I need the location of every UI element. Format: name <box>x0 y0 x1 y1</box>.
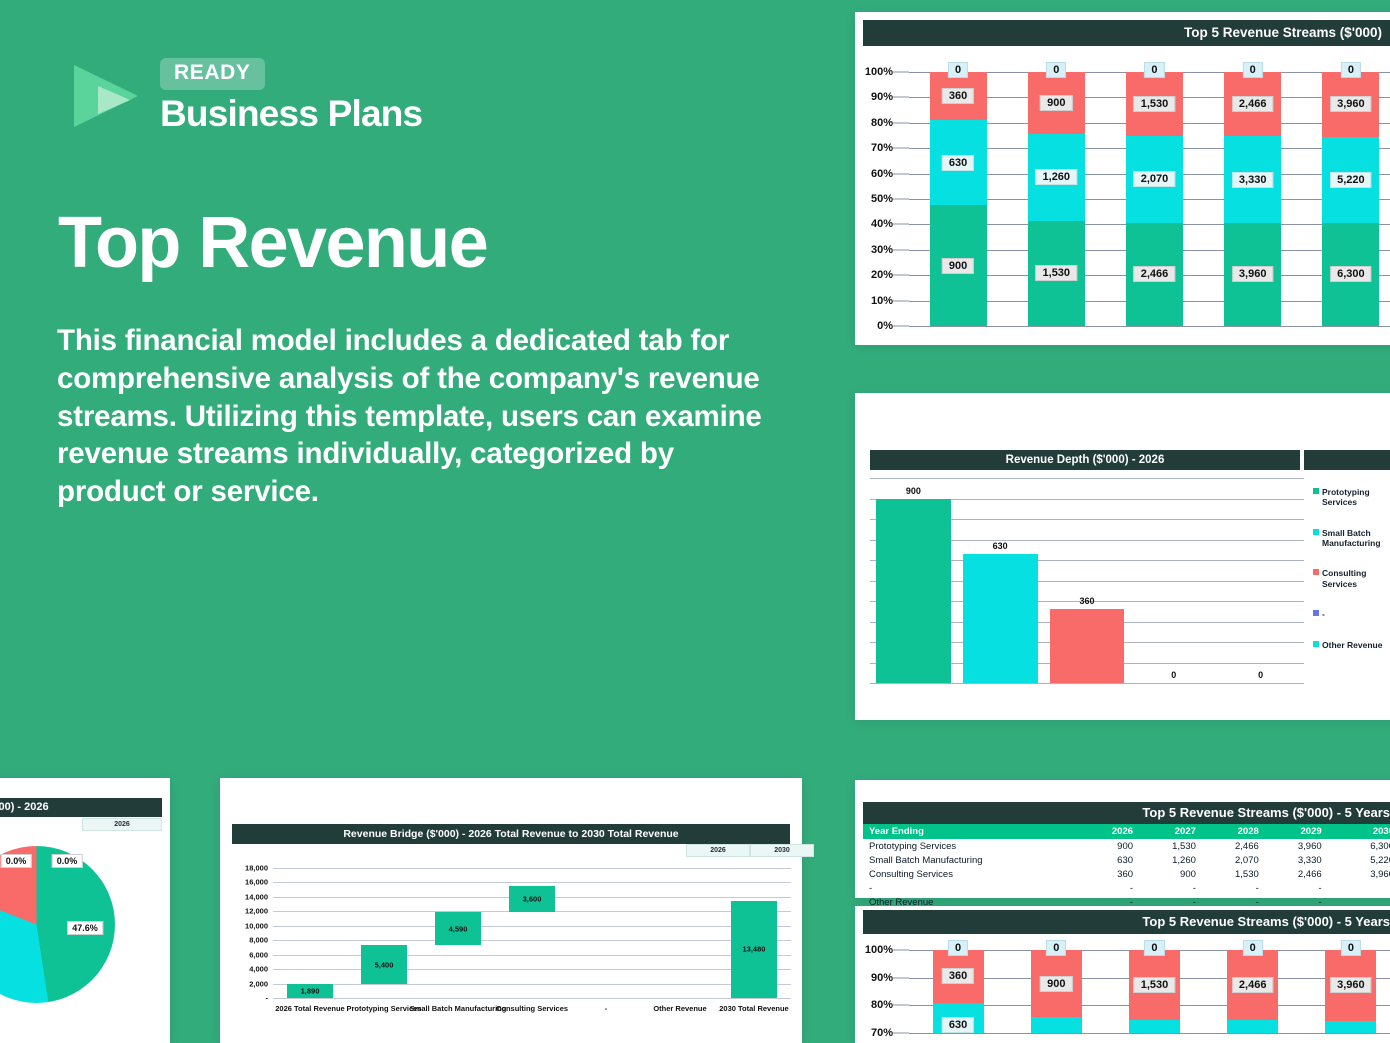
y-tick-label: 12,000 <box>245 907 268 916</box>
gridline <box>870 683 1304 684</box>
bar-column: 1,5301,2609000 <box>1028 52 1085 340</box>
bar-value-label: 0 <box>1171 670 1176 680</box>
waterfall-bar: 5,400 <box>361 945 407 984</box>
bar-value-label: 1,530 <box>1134 96 1176 112</box>
y-tick-label: 16,000 <box>245 878 268 887</box>
bar-column: 3,9600 <box>1325 936 1376 1043</box>
table-cell: - <box>863 881 1076 895</box>
bar-zero-label: 0 <box>1341 940 1361 956</box>
play-triangle-logo-icon <box>68 59 146 133</box>
table-header-cell: 2029 <box>1265 824 1328 839</box>
y-tick-label: 0% <box>877 320 893 332</box>
bar-zero-label: 0 <box>1046 940 1066 956</box>
y-tick-label: 100% <box>865 944 893 956</box>
bar-value-label: 3,960 <box>1330 977 1372 993</box>
bottom-revenue-streams-card: Top 5 Revenue Streams ($'000) - 5 Years … <box>855 906 1390 1043</box>
bar <box>963 554 1038 683</box>
waterfall-bar: 1,890 <box>287 984 333 998</box>
bar-zero-label: 0 <box>1341 62 1361 78</box>
bar-column: 2,4662,0701,5300 <box>1126 52 1183 340</box>
table-cell: 360 <box>1076 867 1139 881</box>
table-cell: 5,220 <box>1328 853 1390 867</box>
bar-value-label: 630 <box>942 1017 974 1033</box>
pie-mini-header-2026: 2026 <box>82 818 162 831</box>
y-tick-mark <box>893 275 909 276</box>
legend-swatch <box>1313 641 1319 647</box>
bar-value-label: 3,600 <box>523 895 542 904</box>
table-cell: - <box>1076 881 1139 895</box>
x-category-label: Consulting Services <box>496 1004 568 1013</box>
bar-value-label: 5,400 <box>375 960 394 969</box>
bar-zero-label: 0 <box>1046 62 1066 78</box>
table-cell: 900 <box>1139 867 1202 881</box>
bar-column: 6303600 <box>933 936 984 1043</box>
bar-segment <box>1031 1017 1082 1033</box>
y-tick-label: 70% <box>871 1027 893 1039</box>
bar-value-label: 630 <box>942 155 974 171</box>
table-cell: Prototyping Services <box>863 839 1076 853</box>
y-tick-label: 80% <box>871 999 893 1011</box>
y-tick-mark <box>893 224 909 225</box>
brand-name: Business Plans <box>160 94 422 134</box>
table-cell: 630 <box>1076 853 1139 867</box>
table-cell: 6,300 <box>1328 839 1390 853</box>
bar-value-label: 360 <box>942 88 974 104</box>
revenue-bridge-card: Revenue Bridge ($'000) - 2026 Total Reve… <box>220 778 802 1043</box>
depth-chart-plot: 90063036000 <box>870 478 1304 683</box>
y-tick-mark <box>893 173 909 174</box>
y-tick-mark <box>893 249 909 250</box>
table-header-cell: 2028 <box>1202 824 1265 839</box>
gridline <box>273 969 791 970</box>
bottom-chart-title: Top 5 Revenue Streams ($'000) - 5 Years <box>863 910 1390 934</box>
gridline <box>273 984 791 985</box>
bar-value-label: 2,466 <box>1134 266 1176 282</box>
legend-swatch <box>1313 569 1319 575</box>
bar-value-label: 900 <box>942 258 974 274</box>
bar-value-label: 2,466 <box>1232 96 1274 112</box>
depth-chart-title: Revenue Depth ($'000) - 2026 <box>870 450 1300 470</box>
table-cell: Small Batch Manufacturing <box>863 853 1076 867</box>
y-tick-label: 30% <box>871 244 893 256</box>
y-tick-label: 80% <box>871 117 893 129</box>
revenue-depth-card: Revenue Depth ($'000) - 2026 90063036000… <box>855 393 1390 720</box>
bar-segment <box>1129 1020 1180 1033</box>
bar-value-label: 360 <box>1079 596 1094 606</box>
y-tick-label: 4,000 <box>249 965 268 974</box>
hero-panel: READY Business Plans Top Revenue This fi… <box>0 0 840 780</box>
table-header-row: Year Ending20262027202820292030 <box>863 824 1390 839</box>
table-cell: 1,530 <box>1202 867 1265 881</box>
bar-column: 9000 <box>1031 936 1082 1043</box>
bar-value-label: 4,590 <box>449 924 468 933</box>
y-tick-label: 40% <box>871 218 893 230</box>
depth-chart-legend: Prototyping ServicesSmall Batch Manufact… <box>1313 487 1390 670</box>
y-tick-mark <box>893 950 909 951</box>
table-cell: - <box>1265 881 1328 895</box>
pie-chart-title: Run-Rate ($'000) - 2026 <box>0 798 162 817</box>
y-tick-label: 100% <box>865 66 893 78</box>
bar-column: 2,4660 <box>1227 936 1278 1043</box>
legend-label: Consulting Services <box>1322 568 1390 589</box>
waterfall-bar: 13,480 <box>731 901 777 998</box>
top-chart-title: Top 5 Revenue Streams ($'000) <box>863 20 1390 46</box>
bar-value-label: 1,260 <box>1036 169 1078 185</box>
bar-value-label: 900 <box>1040 976 1072 992</box>
ready-badge: READY <box>160 58 265 90</box>
legend-swatch <box>1313 610 1319 616</box>
y-tick-label: 50% <box>871 193 893 205</box>
table-header-cell: Year Ending <box>863 824 1076 839</box>
table-cell: 2,070 <box>1202 853 1265 867</box>
legend-label: Prototyping Services <box>1322 487 1390 508</box>
bar-value-label: 1,530 <box>1134 977 1176 993</box>
y-tick-mark <box>893 326 909 327</box>
table-header-cell: 2026 <box>1076 824 1139 839</box>
legend-label: - <box>1322 609 1390 619</box>
x-category-label: 2026 Total Revenue <box>275 1004 344 1013</box>
table-cell: 1,530 <box>1139 839 1202 853</box>
table-row: Prototyping Services9001,5302,4663,9606,… <box>863 839 1390 853</box>
x-category-label: 2030 Total Revenue <box>719 1004 788 1013</box>
plot-area: 90063036001,5301,26090002,4662,0701,5300… <box>909 52 1390 340</box>
legend-label: Small Batch Manufacturing <box>1322 528 1390 549</box>
legend-swatch <box>1313 529 1319 535</box>
bar <box>1050 609 1125 683</box>
bar-segment <box>1227 1020 1278 1033</box>
bottom-chart-plot: 70%80%90%100%630360090001,53002,46603,96… <box>863 936 1390 1043</box>
x-category-label: Small Batch Manufacturing <box>410 1004 507 1013</box>
bar-zero-label: 0 <box>948 62 968 78</box>
y-tick-mark <box>893 300 909 301</box>
legend-item: Consulting Services <box>1313 568 1390 589</box>
table-cell: 3,960 <box>1265 839 1328 853</box>
bar-column: 9006303600 <box>930 52 987 340</box>
gridline <box>273 882 791 883</box>
gridline <box>273 926 791 927</box>
y-tick-mark <box>893 122 909 123</box>
bar-value-label: 900 <box>1040 95 1072 111</box>
plot-area: 630360090001,53002,46603,9600 <box>909 936 1390 1043</box>
revenue-table-card: Top 5 Revenue Streams ($'000) - 5 Years … <box>855 780 1390 898</box>
table-cell: 2,466 <box>1265 867 1328 881</box>
bar-value-label: 1,890 <box>301 987 320 996</box>
bar-zero-label: 0 <box>1144 940 1164 956</box>
y-tick-label: 60% <box>871 168 893 180</box>
bar-value-label: 900 <box>906 486 921 496</box>
table-row: Small Batch Manufacturing6301,2602,0703,… <box>863 853 1390 867</box>
bar-value-label: 360 <box>942 968 974 984</box>
y-tick-label: 10% <box>871 295 893 307</box>
bar <box>876 499 951 684</box>
bridge-chart-title: Revenue Bridge ($'000) - 2026 Total Reve… <box>232 824 790 844</box>
bar-value-label: 1,530 <box>1036 265 1078 281</box>
y-tick-mark <box>893 1033 909 1034</box>
waterfall-bar: 4,590 <box>435 912 481 945</box>
legend-item: Small Batch Manufacturing <box>1313 528 1390 549</box>
bar-column: 1,5300 <box>1129 936 1180 1043</box>
bar-zero-label: 0 <box>1243 62 1263 78</box>
bar-value-label: 3,960 <box>1232 266 1274 282</box>
gridline <box>273 955 791 956</box>
y-axis: 0%10%20%30%40%50%60%70%80%90%100% <box>863 52 909 340</box>
y-tick-label: 10,000 <box>245 921 268 930</box>
table-cell: 3,330 <box>1265 853 1328 867</box>
table-cell: 2,466 <box>1202 839 1265 853</box>
gridline <box>870 478 1304 479</box>
x-category-label: Other Revenue <box>653 1004 706 1013</box>
pie-label-1: 0.0% <box>52 854 83 868</box>
bar-zero-label: 0 <box>948 940 968 956</box>
legend-swatch <box>1313 488 1319 494</box>
y-tick-label: 70% <box>871 142 893 154</box>
table-cell: - <box>1202 881 1265 895</box>
gridline <box>273 998 791 999</box>
table-cell: - <box>1139 881 1202 895</box>
y-tick-label: 20% <box>871 269 893 281</box>
bar-value-label: 2,070 <box>1134 171 1176 187</box>
table-cell: 3,960 <box>1328 867 1390 881</box>
legend-label: Other Revenue <box>1322 640 1390 650</box>
bar-zero-label: 0 <box>1243 940 1263 956</box>
y-tick-label: 14,000 <box>245 892 268 901</box>
y-tick-label: 2,000 <box>249 979 268 988</box>
table-header-cell: 2030 <box>1328 824 1390 839</box>
run-rate-pie-card: Run-Rate ($'000) - 2026 2026 0.0% 0.0% 1… <box>0 778 170 1043</box>
bar-value-label: 3,330 <box>1232 172 1274 188</box>
top-chart-plot: 0%10%20%30%40%50%60%70%80%90%100%9006303… <box>863 52 1390 340</box>
brand-logo: READY Business Plans <box>68 58 422 134</box>
bar-column: 6,3005,2203,9600 <box>1322 52 1379 340</box>
y-tick-mark <box>893 72 909 73</box>
bridge-mini-header-2030: 2030 <box>750 844 814 857</box>
y-tick-mark <box>893 199 909 200</box>
y-tick-label: 6,000 <box>249 950 268 959</box>
bar-segment <box>1325 1021 1376 1033</box>
y-tick-mark <box>893 148 909 149</box>
gridline <box>273 868 791 869</box>
table-header-cell: 2027 <box>1139 824 1202 839</box>
page-description: This financial model includes a dedicate… <box>57 322 777 511</box>
depth-chart-title-spacer <box>1304 450 1390 470</box>
y-tick-mark <box>893 97 909 98</box>
y-tick-mark <box>893 1005 909 1006</box>
pie-label-4: 47.6% <box>67 921 103 935</box>
table-cell: Consulting Services <box>863 867 1076 881</box>
table-title: Top 5 Revenue Streams ($'000) - 5 Years <box>863 802 1390 824</box>
bar-value-label: 3,960 <box>1330 96 1372 112</box>
y-tick-mark <box>893 977 909 978</box>
y-tick-label: 18,000 <box>245 864 268 873</box>
y-tick-label: 90% <box>871 972 893 984</box>
x-category-label: - <box>605 1004 608 1013</box>
bar-value-label: 0 <box>1258 670 1263 680</box>
table-cell: 900 <box>1076 839 1139 853</box>
bridge-chart-plot: -2,0004,0006,0008,00010,00012,00014,0001… <box>273 868 791 998</box>
legend-item: Prototyping Services <box>1313 487 1390 508</box>
bar-value-label: 5,220 <box>1330 172 1372 188</box>
bar-value-label: 13,480 <box>743 945 766 954</box>
waterfall-bar: 3,600 <box>509 886 555 912</box>
y-axis: 70%80%90%100% <box>863 936 909 1043</box>
y-tick-label: 90% <box>871 91 893 103</box>
table-cell: - <box>1328 881 1390 895</box>
bridge-mini-header-2026: 2026 <box>686 844 750 857</box>
legend-item: Other Revenue <box>1313 640 1390 650</box>
table-row: ------ <box>863 881 1390 895</box>
table-row: Consulting Services3609001,5302,4663,960 <box>863 867 1390 881</box>
pie-label-0: 0.0% <box>1 854 32 868</box>
y-tick-label: 8,000 <box>249 936 268 945</box>
bar-zero-label: 0 <box>1144 62 1164 78</box>
bar-value-label: 2,466 <box>1232 977 1274 993</box>
legend-item: - <box>1313 609 1390 619</box>
bar-column: 3,9603,3302,4660 <box>1224 52 1281 340</box>
bar-value-label: 6,300 <box>1330 266 1372 282</box>
bar-value-label: 630 <box>993 541 1008 551</box>
top-revenue-streams-card: Top 5 Revenue Streams ($'000) 0%10%20%30… <box>855 12 1390 345</box>
page-title: Top Revenue <box>58 206 487 282</box>
y-tick-label: - <box>266 994 269 1003</box>
table-cell: 1,260 <box>1139 853 1202 867</box>
gridline <box>273 940 791 941</box>
